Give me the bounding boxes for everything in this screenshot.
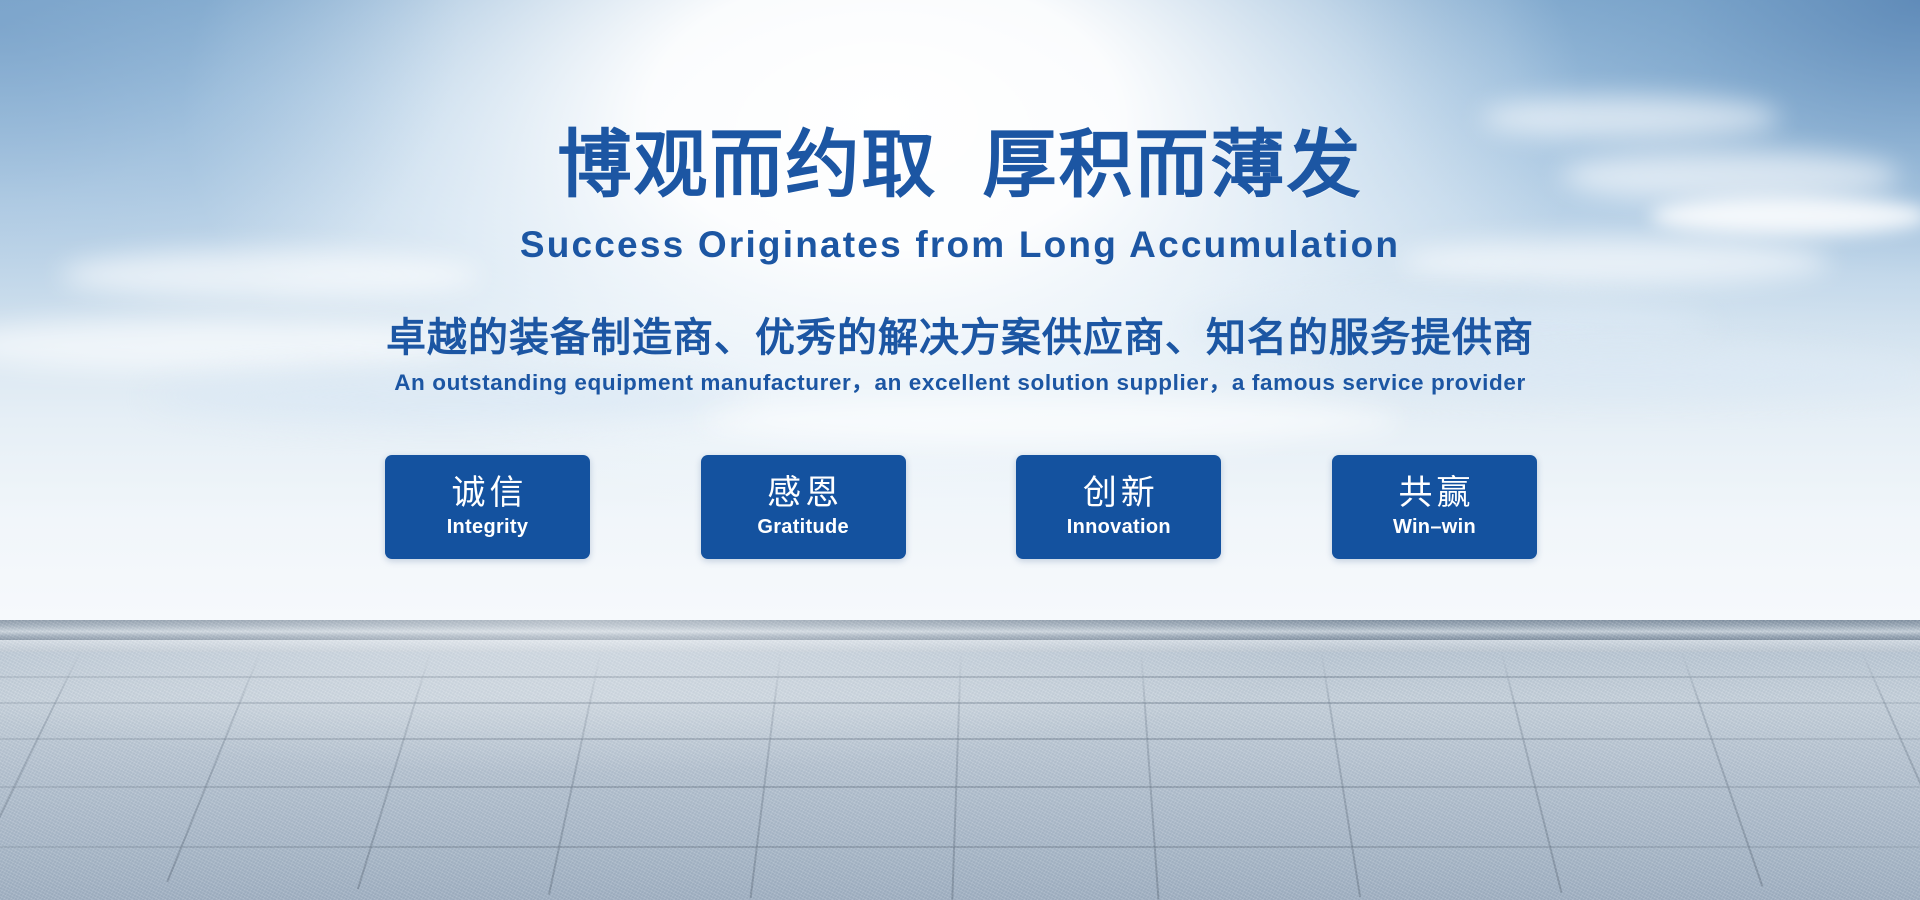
value-card-integrity[interactable]: 诚信 Integrity xyxy=(385,455,590,559)
value-card-label-en: Win–win xyxy=(1393,515,1476,539)
value-card-label-en: Innovation xyxy=(1067,515,1171,539)
value-card-label-zh: 感恩 xyxy=(763,475,843,511)
headline-english: Success Originates from Long Accumulatio… xyxy=(0,224,1920,266)
headline-chinese: 博观而约取 厚积而薄发 xyxy=(0,128,1920,202)
core-values-row: 诚信 Integrity 感恩 Gratitude 创新 Innovation … xyxy=(385,455,1537,559)
value-card-winwin[interactable]: 共赢 Win–win xyxy=(1332,455,1537,559)
banner-content: 博观而约取 厚积而薄发 Success Originates from Long… xyxy=(0,0,1920,900)
value-card-label-zh: 共赢 xyxy=(1394,475,1474,511)
value-card-label-en: Gratitude xyxy=(757,515,849,539)
value-card-gratitude[interactable]: 感恩 Gratitude xyxy=(701,455,906,559)
hero-banner: 博观而约取 厚积而薄发 Success Originates from Long… xyxy=(0,0,1920,900)
value-card-label-zh: 诚信 xyxy=(448,475,528,511)
value-card-innovation[interactable]: 创新 Innovation xyxy=(1016,455,1221,559)
subheadline-english: An outstanding equipment manufacturer，an… xyxy=(0,365,1920,397)
value-card-label-zh: 创新 xyxy=(1079,475,1159,511)
value-card-label-en: Integrity xyxy=(447,515,529,539)
subheadline-chinese: 卓越的装备制造商、优秀的解决方案供应商、知名的服务提供商 xyxy=(0,305,1920,363)
